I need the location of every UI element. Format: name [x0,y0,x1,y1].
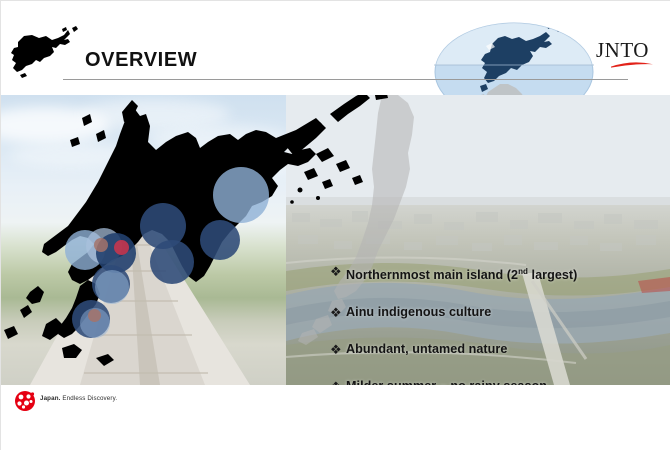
bullet-1-superscript: nd [518,267,528,276]
list-item: ❖ Abundant, untamed nature [330,341,670,358]
japan-cherry-blossom-logo [14,390,36,412]
list-item: ❖ Milder summer – no rainy season [330,378,670,385]
map-circle-light-large-east [213,167,269,223]
bullet-text-2: Ainu indigenous culture [346,304,491,321]
slide-overview: OVERVIEW JNTO [0,0,670,450]
footer-tagline: Japan. Endless Discovery. [40,395,117,402]
bullet-1-tail: largest) [528,268,577,282]
footer-brand: Japan. [40,395,61,402]
hokkaido-silhouette-icon [8,26,84,82]
diamond-bullet-icon: ❖ [330,304,346,321]
title-divider [63,79,628,80]
footer-tagline-text: Endless Discovery. [62,395,117,402]
bullet-text-1: Northernmost main island (2nd largest) [346,263,577,284]
bullet-text-4: Milder summer – no rainy season [346,378,547,385]
page-title: OVERVIEW [85,50,197,70]
list-item: ❖ Ainu indigenous culture [330,304,670,321]
map-circle-brown-marker-sapporo [94,238,108,252]
map-circle-navy-east [200,220,240,260]
slide-header: OVERVIEW JNTO [0,0,670,95]
bullet-1-main: Northernmost main island (2 [346,268,518,282]
slide-body: ❖ Northernmost main island (2nd largest)… [0,95,670,385]
map-circle-navy-central-south [150,240,194,284]
diamond-bullet-icon: ❖ [330,263,346,280]
diamond-bullet-icon: ❖ [330,341,346,358]
jnto-logo-text: JNTO [596,40,658,61]
jnto-red-swoosh-icon [610,61,654,68]
diamond-bullet-icon: ❖ [330,378,346,385]
map-circle-red-marker [114,240,129,255]
map-circle-light-southwest [95,270,129,304]
bullet-list: ❖ Northernmost main island (2nd largest)… [330,263,670,385]
jnto-logo: JNTO [596,40,658,74]
list-item: ❖ Northernmost main island (2nd largest) [330,263,670,284]
slide-footer: Japan. Endless Discovery. [0,385,670,450]
bullet-text-3: Abundant, untamed nature [346,341,507,358]
map-circle-brown-marker-hakodate [88,309,101,322]
